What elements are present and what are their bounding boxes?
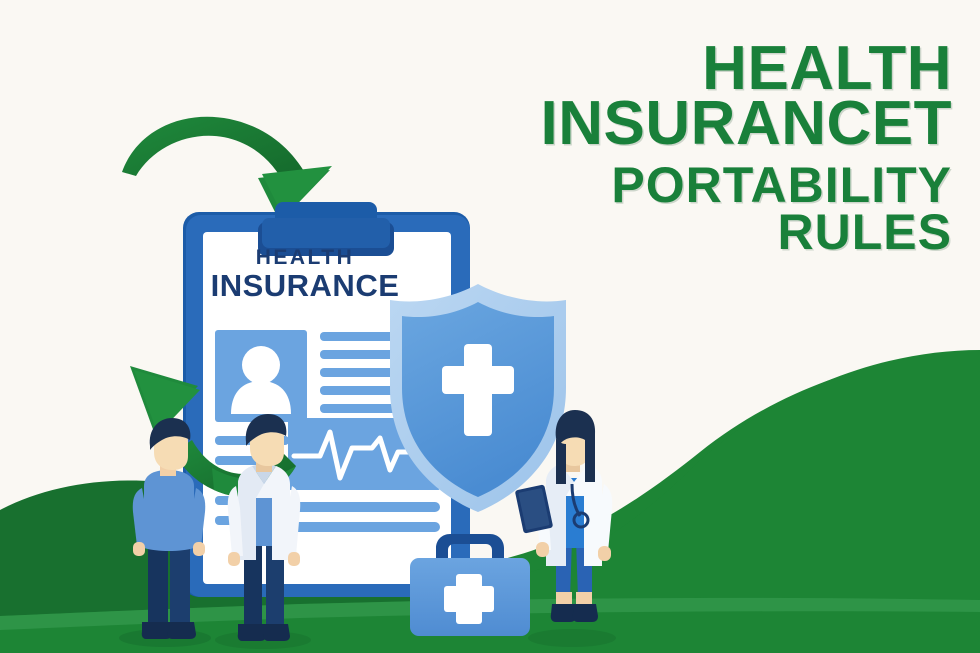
person-avatar-icon xyxy=(215,330,307,422)
headline-line-3: PORTABILITY xyxy=(352,162,952,210)
clipboard-label-health: HEALTH xyxy=(210,246,400,270)
illustration-canvas: HEALTH INSURANCET PORTABILITY RULES HEAL… xyxy=(0,0,980,653)
clipboard-label-insurance: INSURANCE xyxy=(190,268,420,304)
text-line xyxy=(288,502,440,512)
headline-block: HEALTH INSURANCET PORTABILITY RULES xyxy=(352,40,952,257)
text-line xyxy=(288,522,440,532)
headline-line-2: INSURANCET xyxy=(352,95,952,154)
headline-line-4: RULES xyxy=(352,209,952,257)
